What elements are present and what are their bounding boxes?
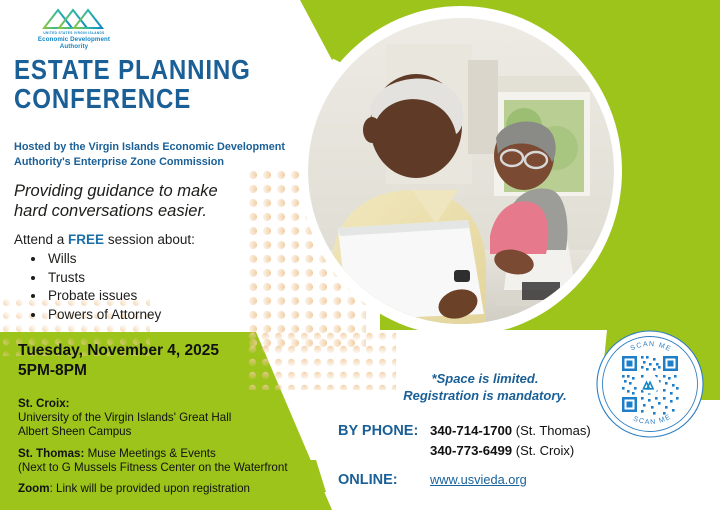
location-zoom: Zoom: Link will be provided upon registr… (18, 482, 328, 496)
location-line-1: Muse Meetings & Events (84, 447, 215, 460)
note-line-2: Registration is mandatory. (370, 387, 600, 404)
location-label: Zoom (18, 482, 50, 495)
attend-suffix: session about: (104, 232, 195, 247)
location-st-croix: St. Croix: University of the Virgin Isla… (18, 397, 328, 440)
phone-place-st-thomas: (St. Thomas) (512, 423, 591, 438)
contact-block: BY PHONE: 340-714-1700 (St. Thomas) 340-… (338, 423, 638, 491)
list-item: Probate issues (46, 287, 161, 306)
phone-place-st-croix: (St. Croix) (512, 443, 574, 458)
qr-code-badge[interactable]: SCAN ME SCAN ME (596, 330, 704, 438)
logo-name-line2: Authority (28, 43, 120, 50)
attend-free-highlight: FREE (68, 232, 104, 247)
conference-photo (308, 14, 614, 328)
photo-circle-frame (300, 6, 622, 336)
location-line-2: Albert Sheen Campus (18, 425, 328, 439)
list-item: Trusts (46, 269, 161, 288)
hosted-line-1: Hosted by the Virgin Islands Economic De… (14, 140, 299, 155)
phone-value-2[interactable]: 340-773-6499 (St. Croix) (430, 443, 574, 458)
tagline-line-1: Providing guidance to make (14, 181, 314, 201)
title-line-2: CONFERENCE (14, 84, 272, 113)
note-line-1: *Space is limited. (370, 370, 600, 387)
list-item: Wills (46, 250, 161, 269)
location-line-2: (Next to G Mussels Fitness Center on the… (18, 461, 328, 475)
online-row: ONLINE: www.usvieda.org (338, 472, 638, 488)
phone-value-1[interactable]: 340-714-1700 (St. Thomas) (430, 423, 591, 438)
location-line-1: University of the Virgin Islands' Great … (18, 411, 328, 425)
registration-note: *Space is limited. Registration is manda… (370, 370, 600, 404)
phone-row-1: BY PHONE: 340-714-1700 (St. Thomas) (338, 423, 638, 439)
phone-label: BY PHONE: (338, 423, 430, 439)
event-time: 5PM-8PM (18, 362, 87, 380)
phone-number-st-thomas[interactable]: 340-714-1700 (430, 423, 512, 438)
usvi-eda-logo: UNITED STATES VIRGIN ISLANDS Economic De… (28, 6, 120, 54)
location-label: St. Thomas: (18, 447, 84, 460)
list-item: Powers of Attorney (46, 306, 161, 325)
logo-name-line1: Economic Development (28, 36, 120, 43)
tagline-line-2: hard conversations easier. (14, 201, 314, 221)
event-locations: St. Croix: University of the Virgin Isla… (18, 397, 328, 503)
event-date: Tuesday, November 4, 2025 (18, 341, 219, 361)
page-title: ESTATE PLANNING CONFERENCE (14, 55, 272, 113)
website-link[interactable]: www.usvieda.org (430, 472, 527, 487)
hosted-line-2: Authority's Enterprise Zone Commission (14, 155, 299, 170)
logo-mountains-icon (42, 6, 106, 30)
hosted-by-text: Hosted by the Virgin Islands Economic De… (14, 140, 299, 169)
location-label: St. Croix: (18, 397, 70, 410)
attend-prefix: Attend a (14, 232, 68, 247)
location-line-1: : Link will be provided upon registratio… (50, 482, 250, 495)
online-label: ONLINE: (338, 472, 430, 488)
tagline: Providing guidance to make hard conversa… (14, 181, 314, 221)
location-st-thomas: St. Thomas: Muse Meetings & Events (Next… (18, 447, 328, 475)
poster-flyer: UNITED STATES VIRGIN ISLANDS Economic De… (0, 0, 720, 510)
attend-heading: Attend a FREE session about: (14, 232, 195, 247)
phone-row-2: 340-773-6499 (St. Croix) (430, 442, 638, 460)
session-topics-list: Wills Trusts Probate issues Powers of At… (30, 250, 161, 324)
phone-number-st-croix[interactable]: 340-773-6499 (430, 443, 512, 458)
title-line-1: ESTATE PLANNING (14, 54, 251, 85)
logo-top-text: UNITED STATES VIRGIN ISLANDS (26, 31, 123, 36)
